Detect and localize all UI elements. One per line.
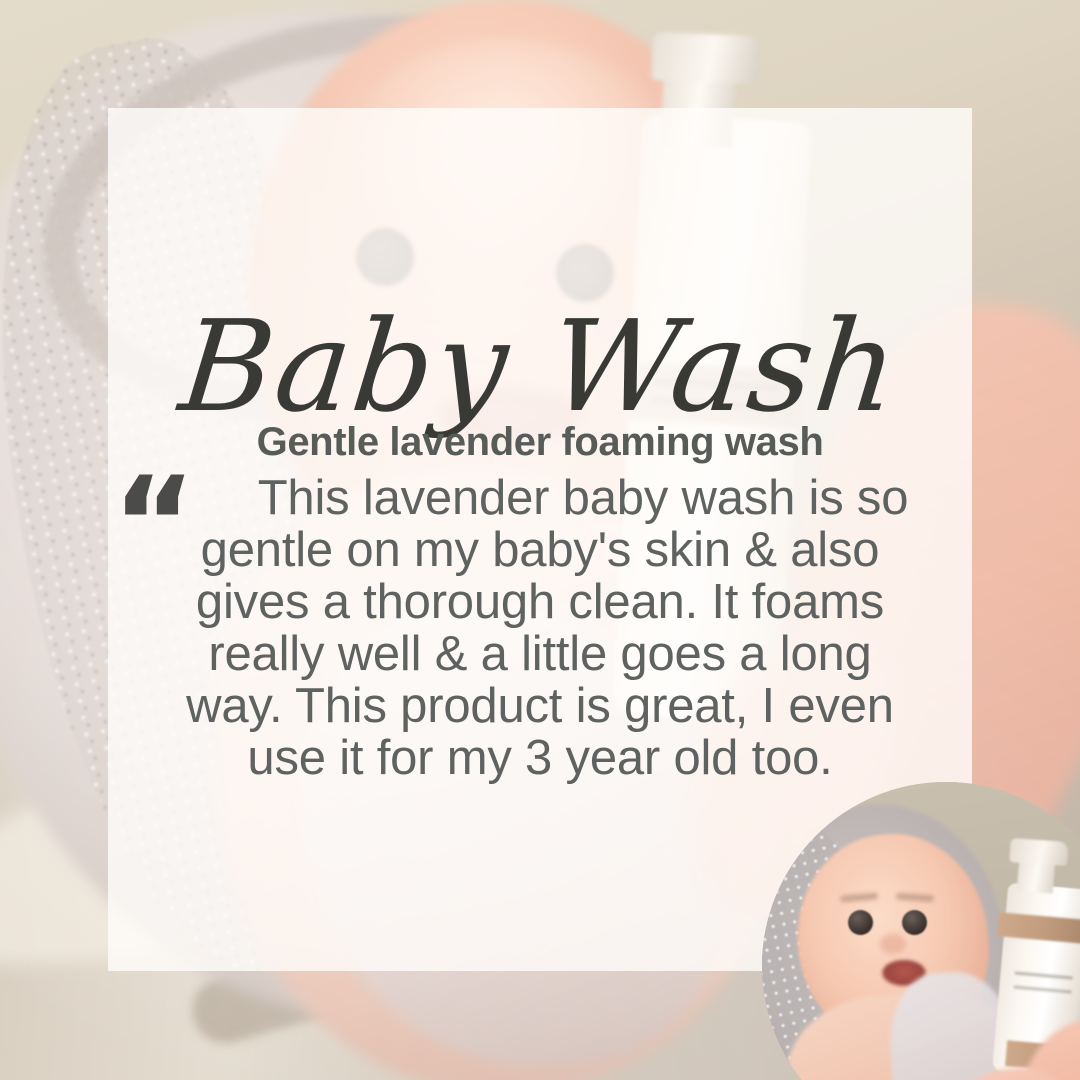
page-title: Baby Wash	[101, 304, 978, 430]
inset-baby-nose	[880, 934, 906, 954]
social-post-card: Baby Wash Gentle lavender foaming wash “…	[0, 0, 1080, 1080]
quote-text: This lavender baby wash is so gentle on …	[122, 472, 958, 784]
inset-photo-circle	[762, 782, 1080, 1080]
quote-line: really well & a little goes a long	[122, 628, 958, 680]
inset-baby-eye-left	[848, 910, 873, 935]
testimonial-quote: “ This lavender baby wash is so gentle o…	[108, 472, 972, 784]
product-subtitle: Gentle lavender foaming wash	[108, 420, 972, 464]
inset-baby-eye-right	[902, 910, 927, 935]
quote-line: gives a thorough clean. It foams	[122, 576, 958, 628]
quote-line: This lavender baby wash is so	[122, 472, 958, 524]
quote-line: gentle on my baby's skin & also	[122, 524, 958, 576]
inset-bottle-label	[1013, 966, 1074, 1005]
quote-line: way. This product is great, I even	[122, 680, 958, 732]
inset-bottle-pump	[1009, 838, 1069, 866]
quote-line: use it for my 3 year old too.	[122, 732, 958, 784]
